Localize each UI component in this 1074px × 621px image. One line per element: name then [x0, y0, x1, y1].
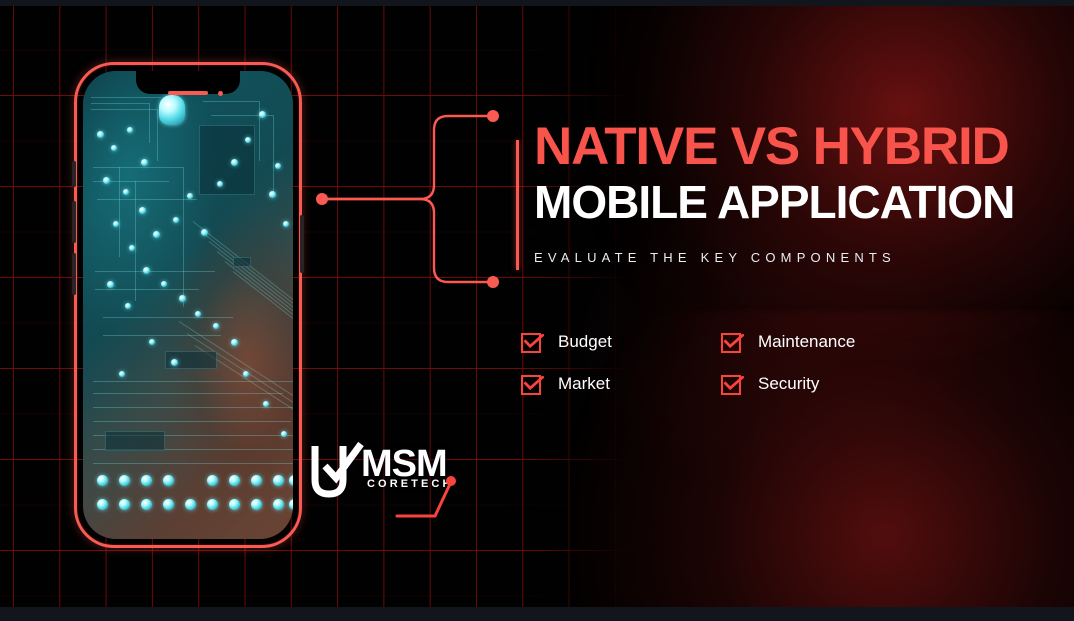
bottom-letterbox-strip — [0, 607, 1074, 621]
top-letterbox-strip — [0, 0, 1074, 6]
checklist-item-label: Maintenance — [758, 332, 855, 352]
title-line-primary: NATIVE VS HYBRID — [534, 118, 1056, 176]
checkbox-checked-icon[interactable] — [520, 330, 544, 354]
smartphone-mockup — [74, 62, 302, 548]
checklist-item-market[interactable]: Market — [520, 372, 720, 396]
checkbox-checked-icon[interactable] — [720, 372, 744, 396]
earpiece-speaker-icon — [168, 91, 208, 95]
checkbox-checked-icon[interactable] — [520, 372, 544, 396]
logo-circuit-trace-icon — [395, 474, 459, 520]
page-subtitle: EVALUATE THE KEY COMPONENTS — [534, 250, 1056, 265]
checklist-item-label: Market — [558, 374, 610, 394]
key-components-checklist: Budget Maintenance Market Security — [520, 330, 940, 396]
banner-stage: NATIVE VS HYBRID MOBILE APPLICATION EVAL… — [0, 0, 1074, 621]
circuit-bracket-connector-icon — [312, 88, 512, 310]
front-camera-icon — [218, 91, 223, 96]
brand-logo[interactable]: MSM CORETECH — [309, 438, 459, 510]
checklist-item-label: Budget — [558, 332, 612, 352]
vertical-accent-bar — [516, 140, 519, 270]
checkbox-checked-icon[interactable] — [720, 330, 744, 354]
checklist-item-label: Security — [758, 374, 819, 394]
phone-volume-down-button — [72, 253, 76, 295]
checklist-item-security[interactable]: Security — [720, 372, 920, 396]
phone-volume-up-button — [72, 201, 76, 243]
phone-power-button — [300, 215, 304, 273]
checklist-item-maintenance[interactable]: Maintenance — [720, 330, 920, 354]
circuit-board-image — [83, 71, 293, 539]
phone-screen — [83, 71, 293, 539]
checklist-item-budget[interactable]: Budget — [520, 330, 720, 354]
page-title: NATIVE VS HYBRID MOBILE APPLICATION — [534, 118, 1056, 228]
phone-mute-switch — [72, 161, 76, 187]
title-line-secondary: MOBILE APPLICATION — [534, 176, 1056, 228]
headline-block: NATIVE VS HYBRID MOBILE APPLICATION EVAL… — [516, 118, 1056, 265]
